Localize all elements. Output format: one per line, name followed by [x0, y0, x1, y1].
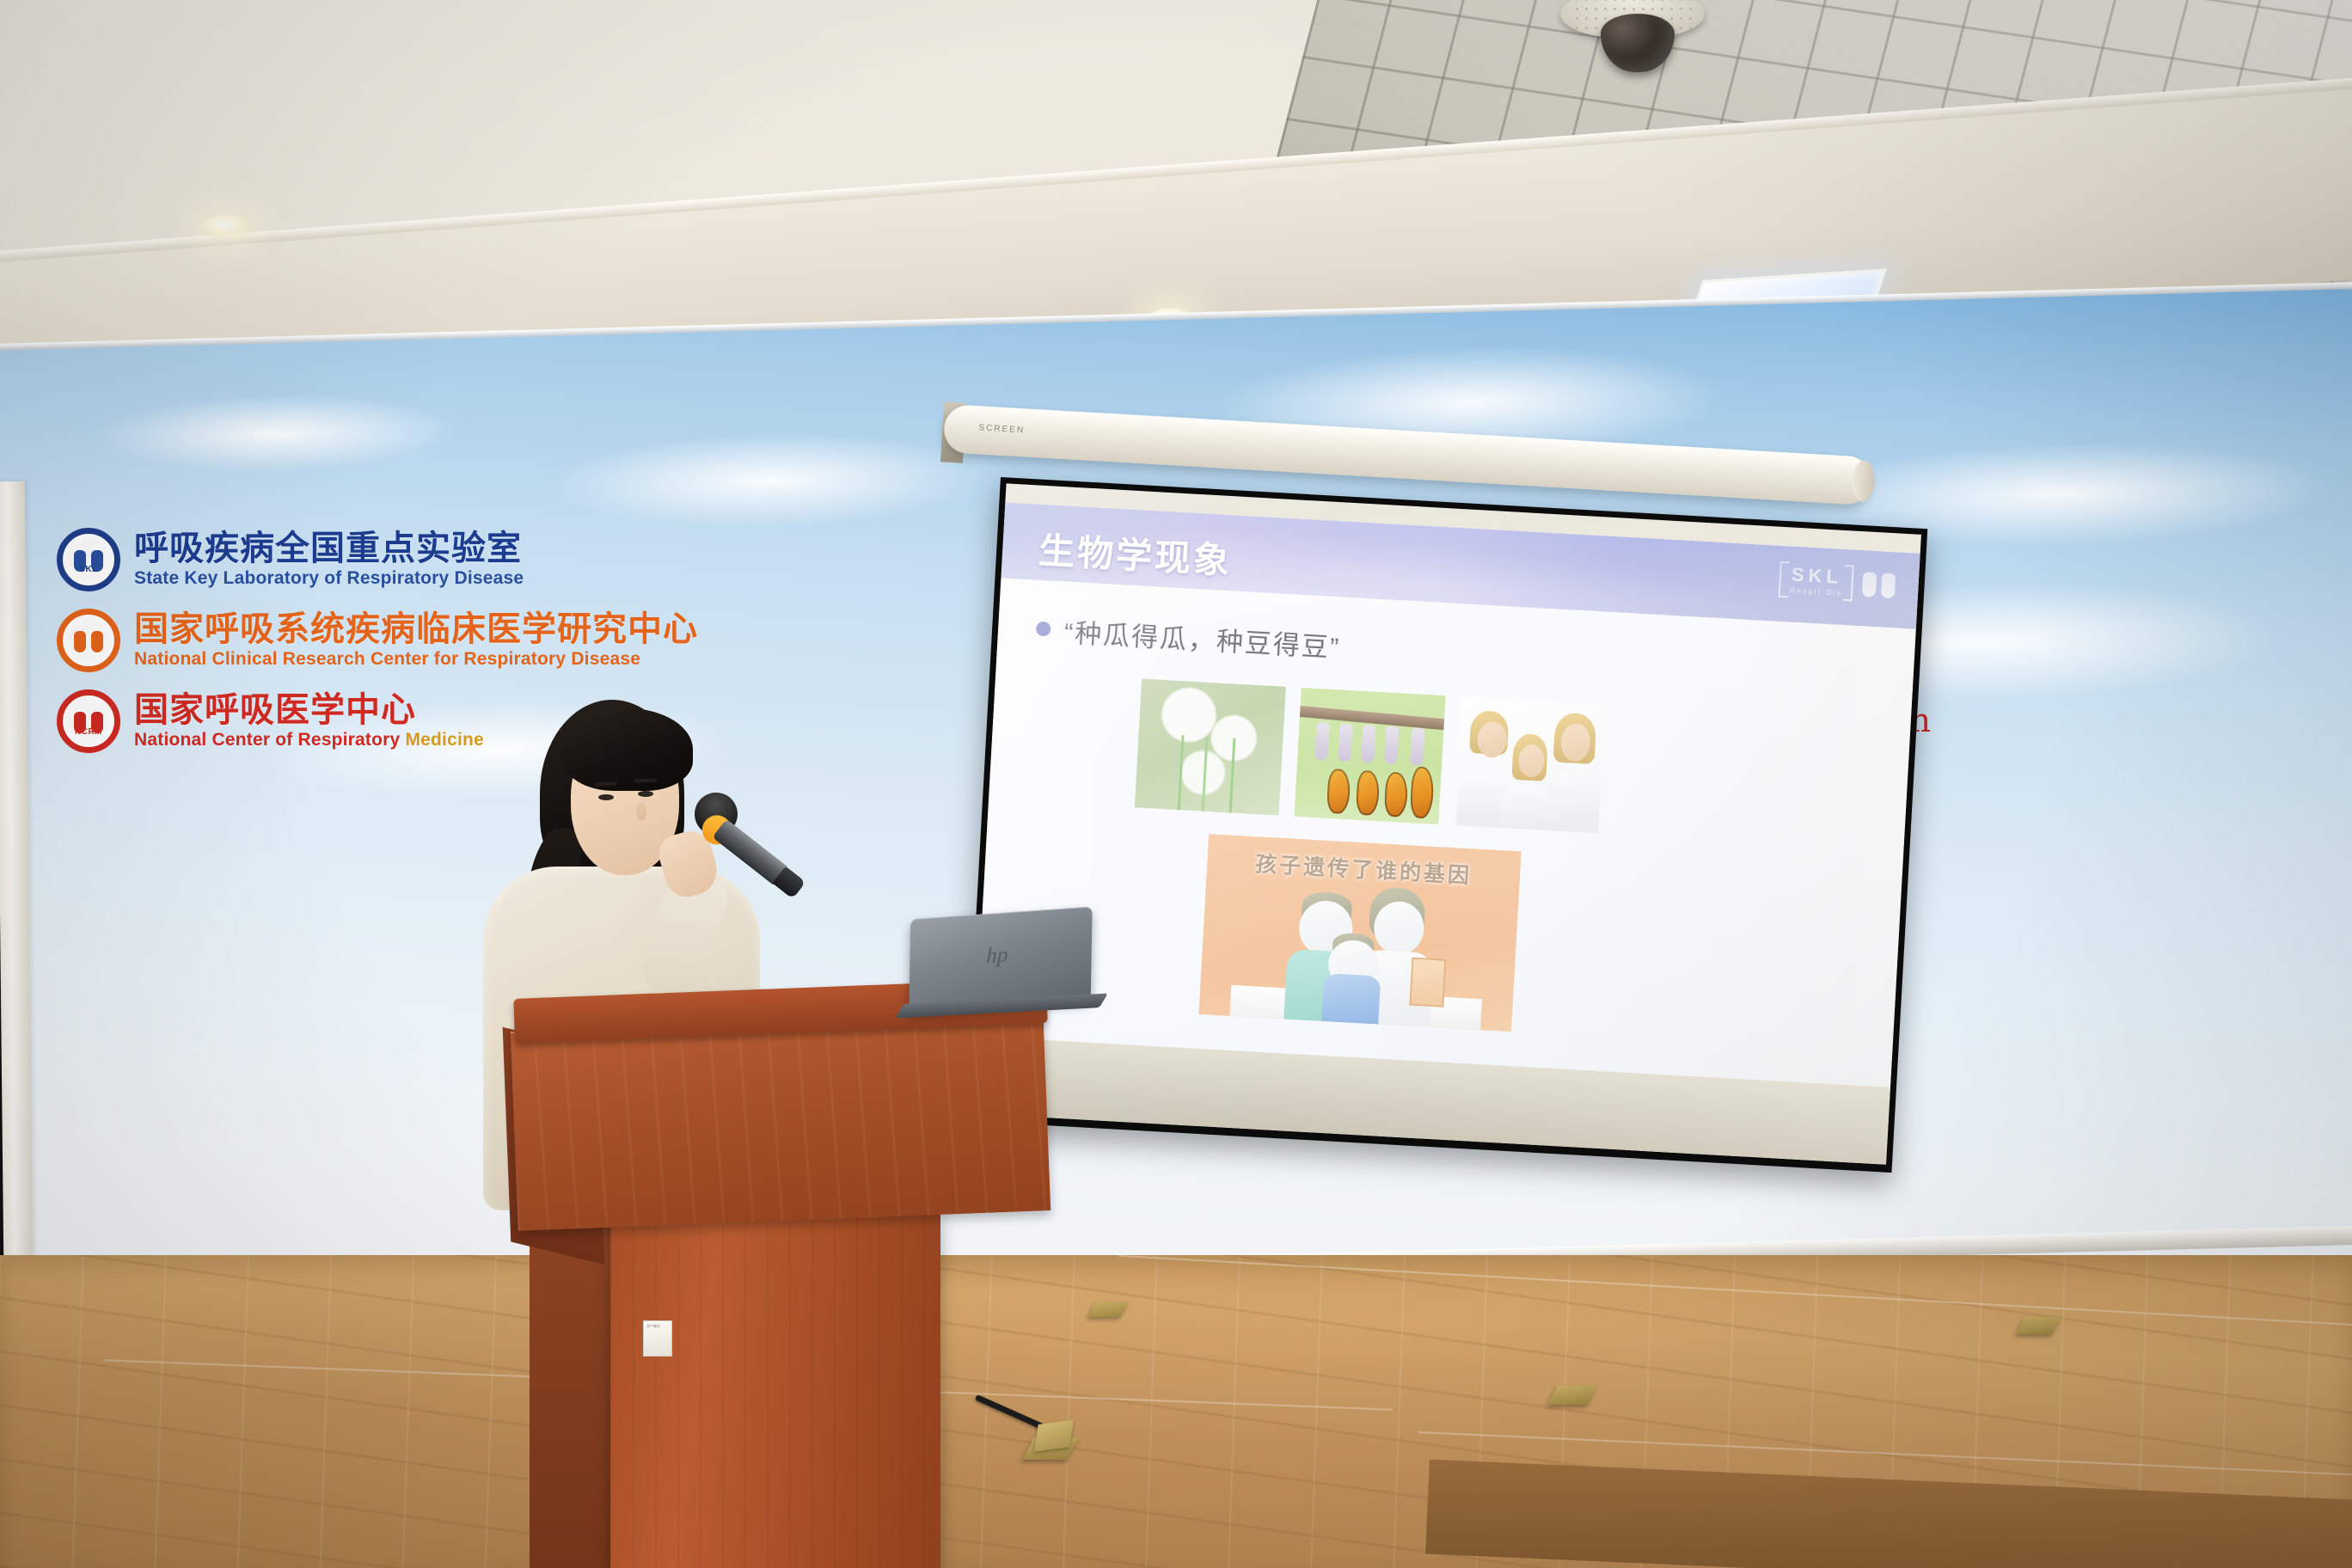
cloud	[96, 390, 459, 477]
logo-row-ncrm: NCRM 国家呼吸医学中心 National Center of Respira…	[57, 689, 882, 753]
projected-slide: 生物学现象 SKL Respir Dis “种瓜得瓜，种豆得豆”	[975, 502, 1920, 1103]
lecture-hall-scene: 学术交流中心 国家呼吸医学中心	[0, 0, 2352, 1568]
institution-logos: SKL 呼吸疾病全国重点实验室 State Key Laboratory of …	[57, 528, 882, 770]
skl-seal-icon: SKL	[57, 528, 120, 591]
family-genetics-cartoon: 孩子遗传了谁的基因	[1198, 834, 1521, 1032]
slide-skl-logo: SKL Respir Dis	[1779, 563, 1896, 601]
logo-label-cn: 呼吸疾病全国重点实验室	[134, 530, 524, 567]
seal-abbr: NCRM	[68, 727, 109, 737]
logo-label-cn: 国家呼吸系统疾病临床医学研究中心	[134, 611, 698, 648]
floor-power-outlet-icon	[2016, 1317, 2061, 1334]
wooden-podium: 资产编号	[514, 987, 1047, 1568]
butterfly-illustration	[1295, 688, 1446, 824]
slide-image-row	[1135, 679, 1606, 834]
logo-label-cn: 国家呼吸医学中心	[134, 692, 484, 729]
skl-abbr: SKL	[1790, 563, 1844, 588]
podium-column	[610, 1212, 940, 1568]
cartoon-book-icon	[1409, 958, 1446, 1008]
screen-surface: 生物学现象 SKL Respir Dis “种瓜得瓜，种豆得豆”	[971, 483, 1921, 1164]
presenter-laptop[interactable]: hp	[910, 913, 1092, 1006]
logo-label-en: State Key Laboratory of Respiratory Dise…	[134, 567, 524, 589]
logo-label-en-main: National Center of Respiratory	[134, 730, 405, 750]
floor-power-outlet-icon	[1087, 1302, 1129, 1317]
logo-label-en: National Center of Respiratory Medicine	[134, 729, 484, 750]
bullet-dot-icon	[1036, 622, 1051, 637]
nose	[636, 803, 646, 820]
hair-front	[562, 708, 693, 791]
podium-asset-tag: 资产编号	[643, 1320, 672, 1357]
podium-desk-front	[511, 1011, 1050, 1231]
skl-sub: Respir Dis	[1789, 585, 1842, 597]
logo-label-en: National Clinical Research Center for Re…	[134, 648, 698, 670]
logo-row-ncrc: 国家呼吸系统疾病临床医学研究中心 National Clinical Resea…	[57, 609, 882, 672]
projection-screen: 生物学现象 SKL Respir Dis “种瓜得瓜，种豆得豆”	[965, 477, 1927, 1173]
ncrc-seal-icon	[57, 609, 120, 672]
seal-abbr: SKL	[68, 565, 109, 574]
hp-logo-icon: hp	[986, 943, 1008, 969]
lungs-icon	[1861, 567, 1897, 600]
slide-bullet: “种瓜得瓜，种豆得豆”	[1035, 609, 1342, 665]
dandelion-photo	[1135, 679, 1286, 816]
floor-power-outlet-icon	[1547, 1386, 1597, 1405]
floor-seam	[1118, 1255, 2352, 1326]
slide-header: 生物学现象 SKL Respir Dis	[1001, 502, 1920, 628]
skl-wordmark: SKL Respir Dis	[1779, 563, 1853, 598]
logo-label-en-highlight: Medicine	[405, 730, 483, 750]
logo-row-skl: SKL 呼吸疾病全国重点实验室 State Key Laboratory of …	[57, 528, 882, 591]
ncrm-seal-icon: NCRM	[57, 689, 120, 753]
family-photo	[1454, 696, 1605, 833]
lungs-icon	[74, 628, 103, 653]
podium-side-panel	[530, 1221, 616, 1568]
cartoon-baby	[1314, 932, 1392, 1026]
slide-title: 生物学现象	[1038, 522, 1234, 585]
eye	[598, 794, 614, 800]
slide-bullet-text: “种瓜得瓜，种豆得豆”	[1063, 610, 1342, 665]
roller-brand-label: SCREEN	[978, 423, 1025, 435]
cloud	[544, 428, 994, 535]
eye	[638, 791, 653, 797]
